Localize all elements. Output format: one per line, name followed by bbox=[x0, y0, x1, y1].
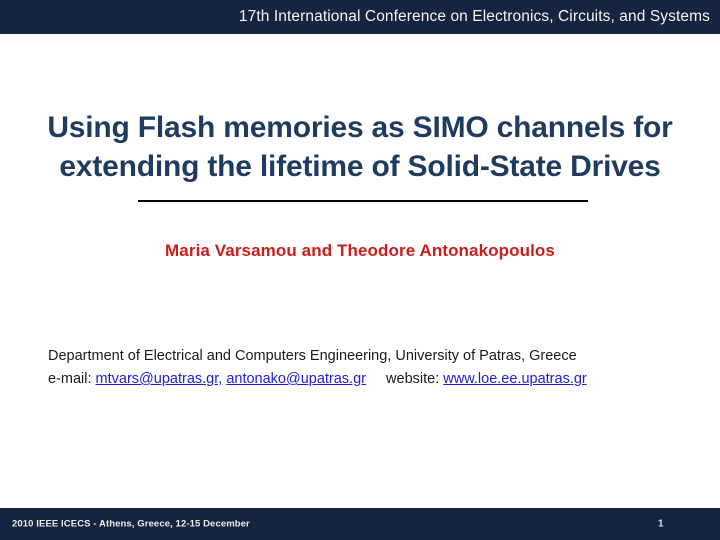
website-link[interactable]: www.loe.ee.upatras.gr bbox=[443, 371, 586, 387]
affiliation-line: Department of Electrical and Computers E… bbox=[48, 346, 708, 367]
title-divider-rule bbox=[138, 200, 588, 202]
slide-title-line-1: Using Flash memories as SIMO channels fo… bbox=[22, 108, 698, 147]
email-label: e-mail: bbox=[48, 371, 92, 387]
contact-line: e-mail: mtvars@upatras.gr, antonako@upat… bbox=[48, 369, 708, 390]
email-link-mtvars[interactable]: mtvars@upatras.gr, bbox=[96, 371, 223, 387]
email-link-antonako[interactable]: antonako@upatras.gr bbox=[226, 371, 366, 387]
author-list: Maria Varsamou and Theodore Antonakopoul… bbox=[60, 241, 660, 261]
slide-page-number: 1 bbox=[658, 519, 664, 530]
footer-credit: 2010 IEEE ICECS - Athens, Greece, 12-15 … bbox=[12, 519, 250, 530]
conference-title: 17th International Conference on Electro… bbox=[239, 8, 710, 26]
presentation-slide: 17th International Conference on Electro… bbox=[0, 0, 720, 540]
website-label: website: bbox=[386, 371, 439, 387]
slide-header-band: 17th International Conference on Electro… bbox=[0, 0, 720, 34]
slide-title-line-2: extending the lifetime of Solid-State Dr… bbox=[22, 147, 698, 186]
slide-title: Using Flash memories as SIMO channels fo… bbox=[22, 108, 698, 186]
contact-block: Department of Electrical and Computers E… bbox=[48, 346, 708, 390]
slide-footer-band: 2010 IEEE ICECS - Athens, Greece, 12-15 … bbox=[0, 508, 720, 540]
